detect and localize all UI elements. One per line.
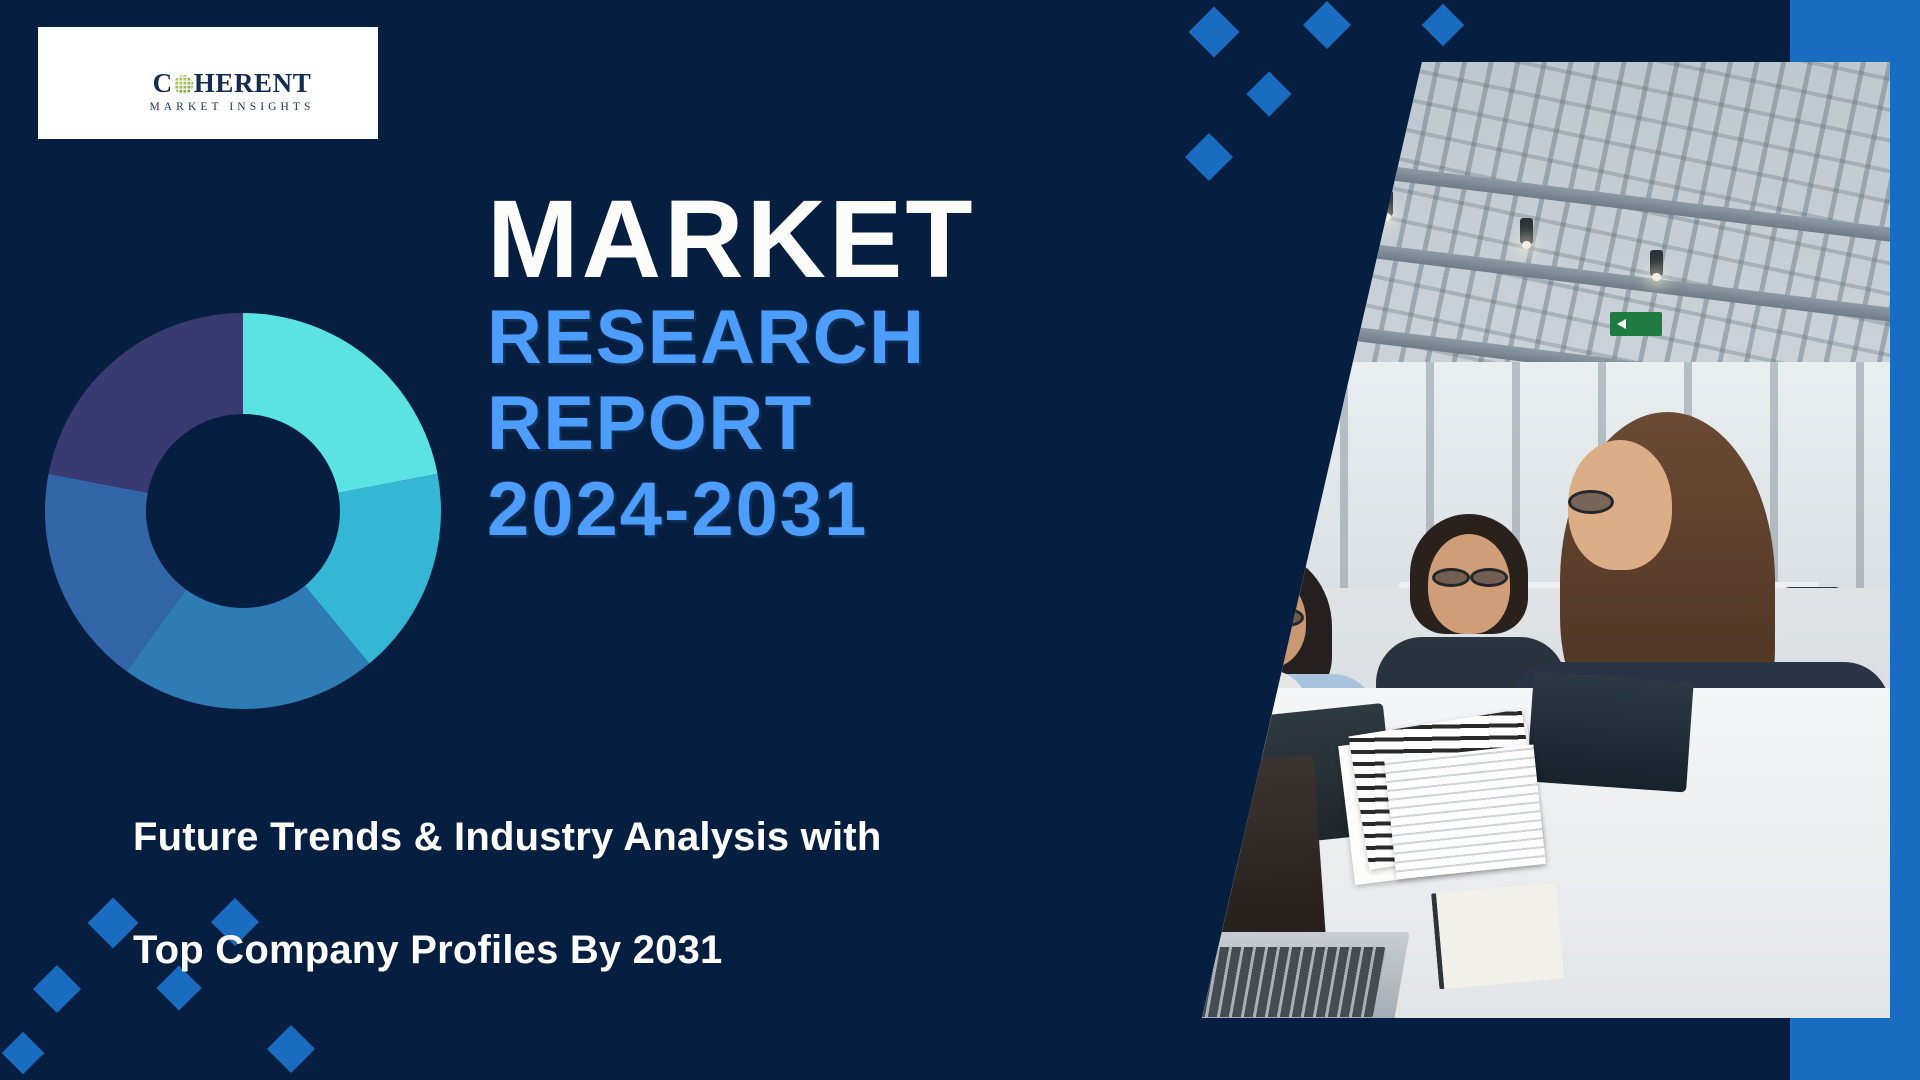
- logo-card: C HERENT MARKET INSIGHTS: [38, 27, 378, 139]
- globe-grid-icon: [174, 75, 193, 94]
- spiral-notebook: [1431, 883, 1564, 990]
- logo-name-prefix: C: [153, 70, 173, 97]
- logo-tagline: MARKET INSIGHTS: [149, 101, 314, 113]
- track-light: [1520, 218, 1533, 244]
- subtagline-line-2: Top Company Profiles By 2031: [133, 922, 1133, 979]
- headline-years: 2024-2031: [487, 467, 1187, 553]
- headline-report: REPORT: [487, 381, 1187, 467]
- headline-research: RESEARCH: [487, 295, 1187, 381]
- laptop: [1526, 672, 1693, 793]
- headline-market: MARKET: [487, 185, 1187, 295]
- subtagline: Future Trends & Industry Analysis with T…: [133, 752, 1133, 1036]
- donut-center-hole: [146, 414, 340, 608]
- logo-wordmark: C HERENT: [153, 70, 312, 97]
- logo-name-suffix: HERENT: [194, 70, 312, 97]
- track-light: [1650, 250, 1663, 276]
- exit-sign: [1610, 312, 1662, 336]
- headline-block: MARKET RESEARCH REPORT 2024-2031: [487, 185, 1187, 553]
- donut-chart: [45, 313, 441, 709]
- subtagline-line-1: Future Trends & Industry Analysis with: [133, 809, 1133, 866]
- printed-document: [1384, 744, 1546, 879]
- marketing-banner: C HERENT MARKET INSIGHTS MARKET RESEARCH…: [0, 0, 1920, 1080]
